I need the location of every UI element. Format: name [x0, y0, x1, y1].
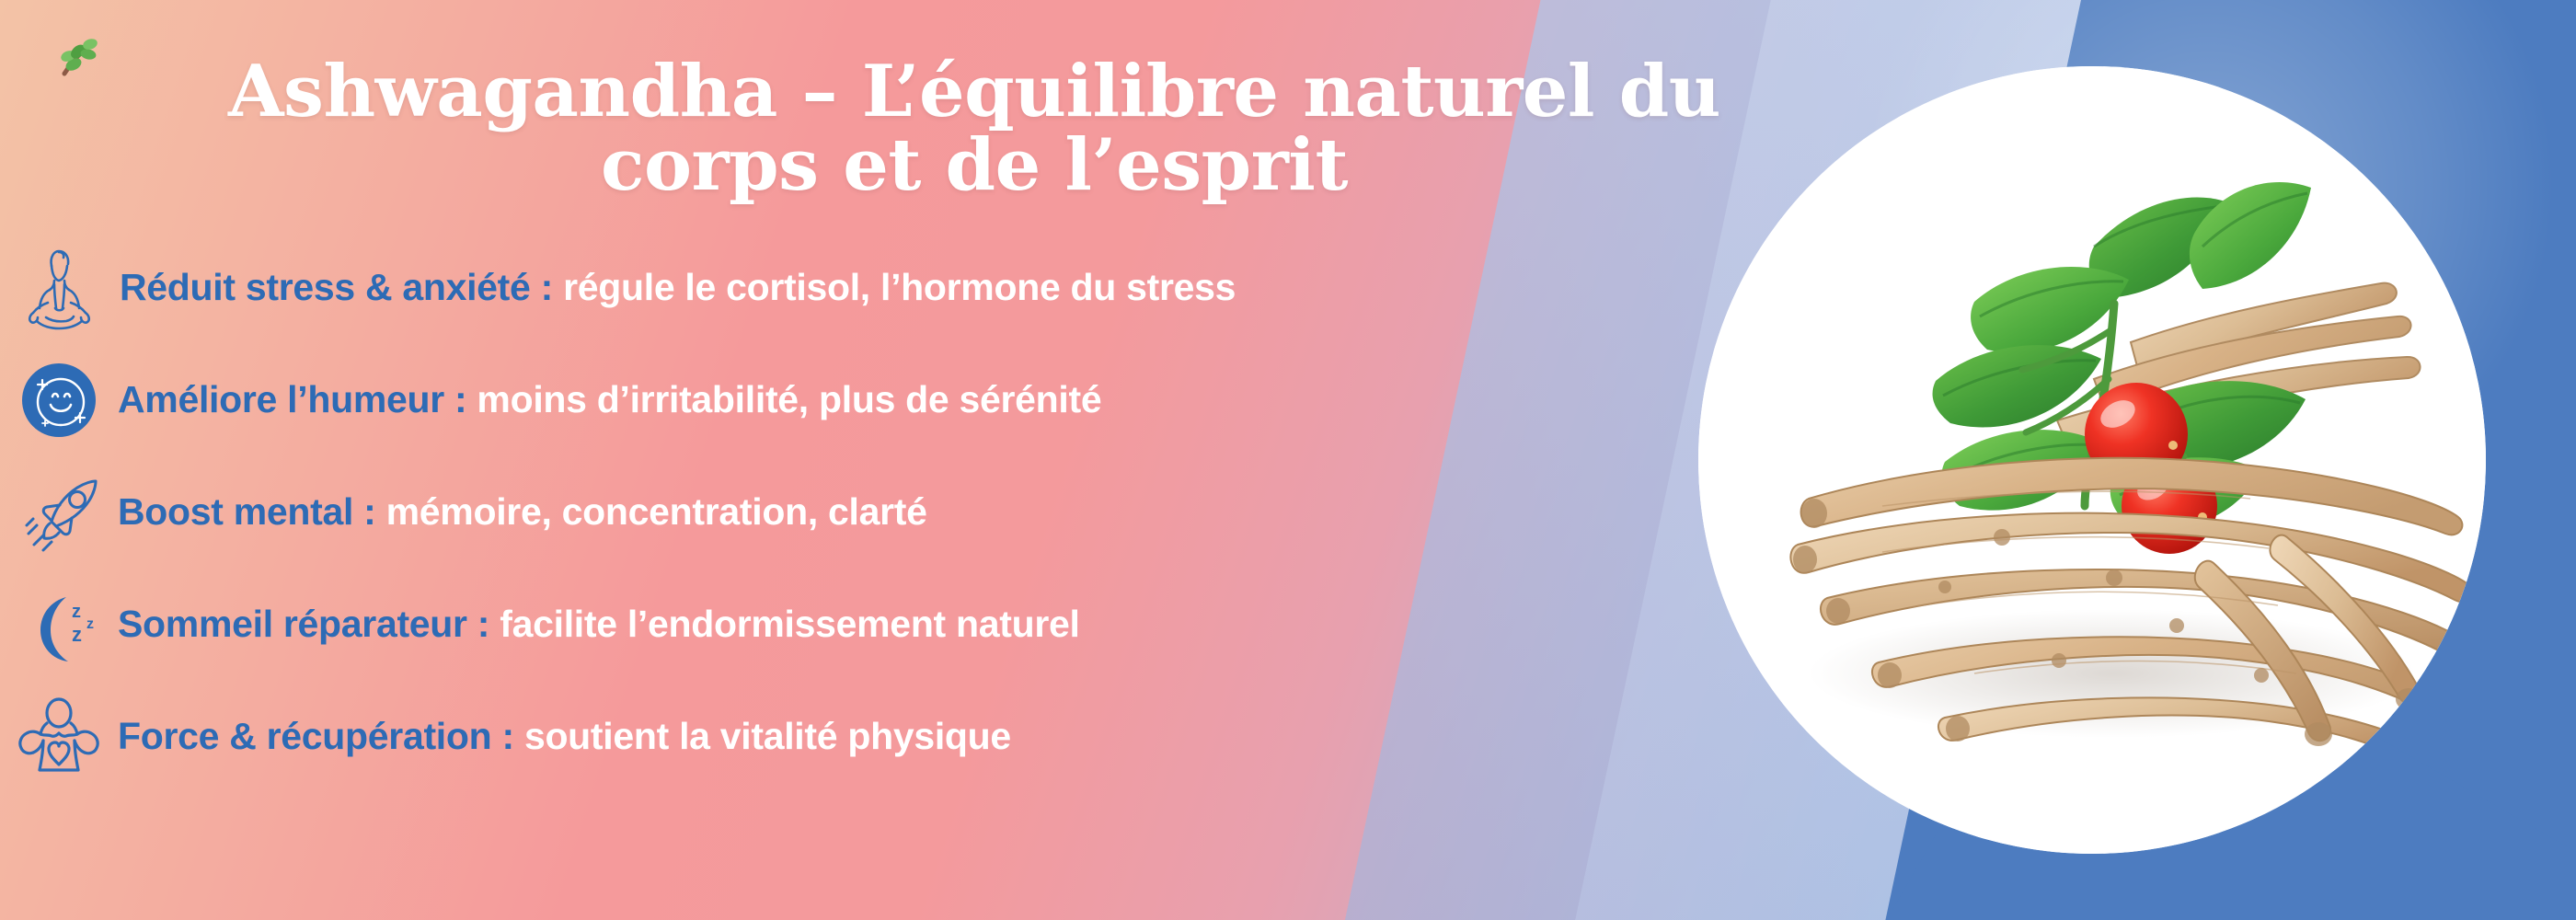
herb-sprig-icon	[55, 31, 105, 86]
benefit-text: Réduit stress & anxiété : régule le cort…	[120, 267, 1674, 308]
benefit-separator: :	[467, 603, 500, 645]
benefit-text: Force & récupération : soutient la vital…	[118, 716, 1674, 757]
svg-text:z: z	[72, 602, 81, 622]
list-item: z z z Sommeil réparateur : facilite l’en…	[0, 569, 1674, 681]
rocket-icon	[0, 465, 118, 560]
list-item: Force & récupération : soutient la vital…	[0, 681, 1674, 793]
benefit-description: facilite l’endormissement naturel	[500, 603, 1079, 645]
benefit-separator: :	[353, 490, 386, 533]
page-title: Ashwagandha – L’équilibre naturel du cor…	[118, 55, 1831, 201]
svg-text:z: z	[72, 623, 82, 646]
list-item: Améliore l’humeur : moins d’irritabilité…	[0, 344, 1674, 456]
benefit-description: moins d’irritabilité, plus de sérénité	[477, 378, 1101, 420]
benefit-description: mémoire, concentration, clarté	[386, 490, 927, 533]
benefit-separator: :	[531, 266, 564, 308]
banner-title-row: Ashwagandha – L’équilibre naturel du cor…	[55, 7, 1831, 250]
yoga-lotus-icon	[0, 240, 118, 336]
benefit-description: soutient la vitalité physique	[524, 715, 1011, 757]
moon-sleep-icon: z z z	[0, 577, 118, 673]
benefit-title: Améliore l’humeur	[118, 378, 444, 420]
benefit-title: Boost mental	[118, 490, 353, 533]
svg-text:z: z	[86, 616, 94, 632]
benefit-text: Améliore l’humeur : moins d’irritabilité…	[118, 379, 1674, 420]
benefit-description: régule le cortisol, l’hormone du stress	[563, 266, 1236, 308]
ashwagandha-banner: Ashwagandha – L’équilibre naturel du cor…	[0, 0, 2576, 920]
benefit-text: Sommeil réparateur : facilite l’endormis…	[118, 604, 1674, 645]
benefit-title: Force & récupération	[118, 715, 491, 757]
benefit-separator: :	[444, 378, 477, 420]
list-item: Réduit stress & anxiété : régule le cort…	[0, 232, 1674, 344]
list-item: Boost mental : mémoire, concentration, c…	[0, 456, 1674, 569]
smiley-face-icon	[0, 352, 118, 448]
benefit-text: Boost mental : mémoire, concentration, c…	[118, 491, 1674, 533]
strong-arms-heart-icon	[0, 689, 118, 785]
benefit-separator: :	[491, 715, 524, 757]
benefits-list: Réduit stress & anxiété : régule le cort…	[0, 232, 1674, 793]
benefit-title: Réduit stress & anxiété	[120, 266, 531, 308]
benefit-title: Sommeil réparateur	[118, 603, 467, 645]
